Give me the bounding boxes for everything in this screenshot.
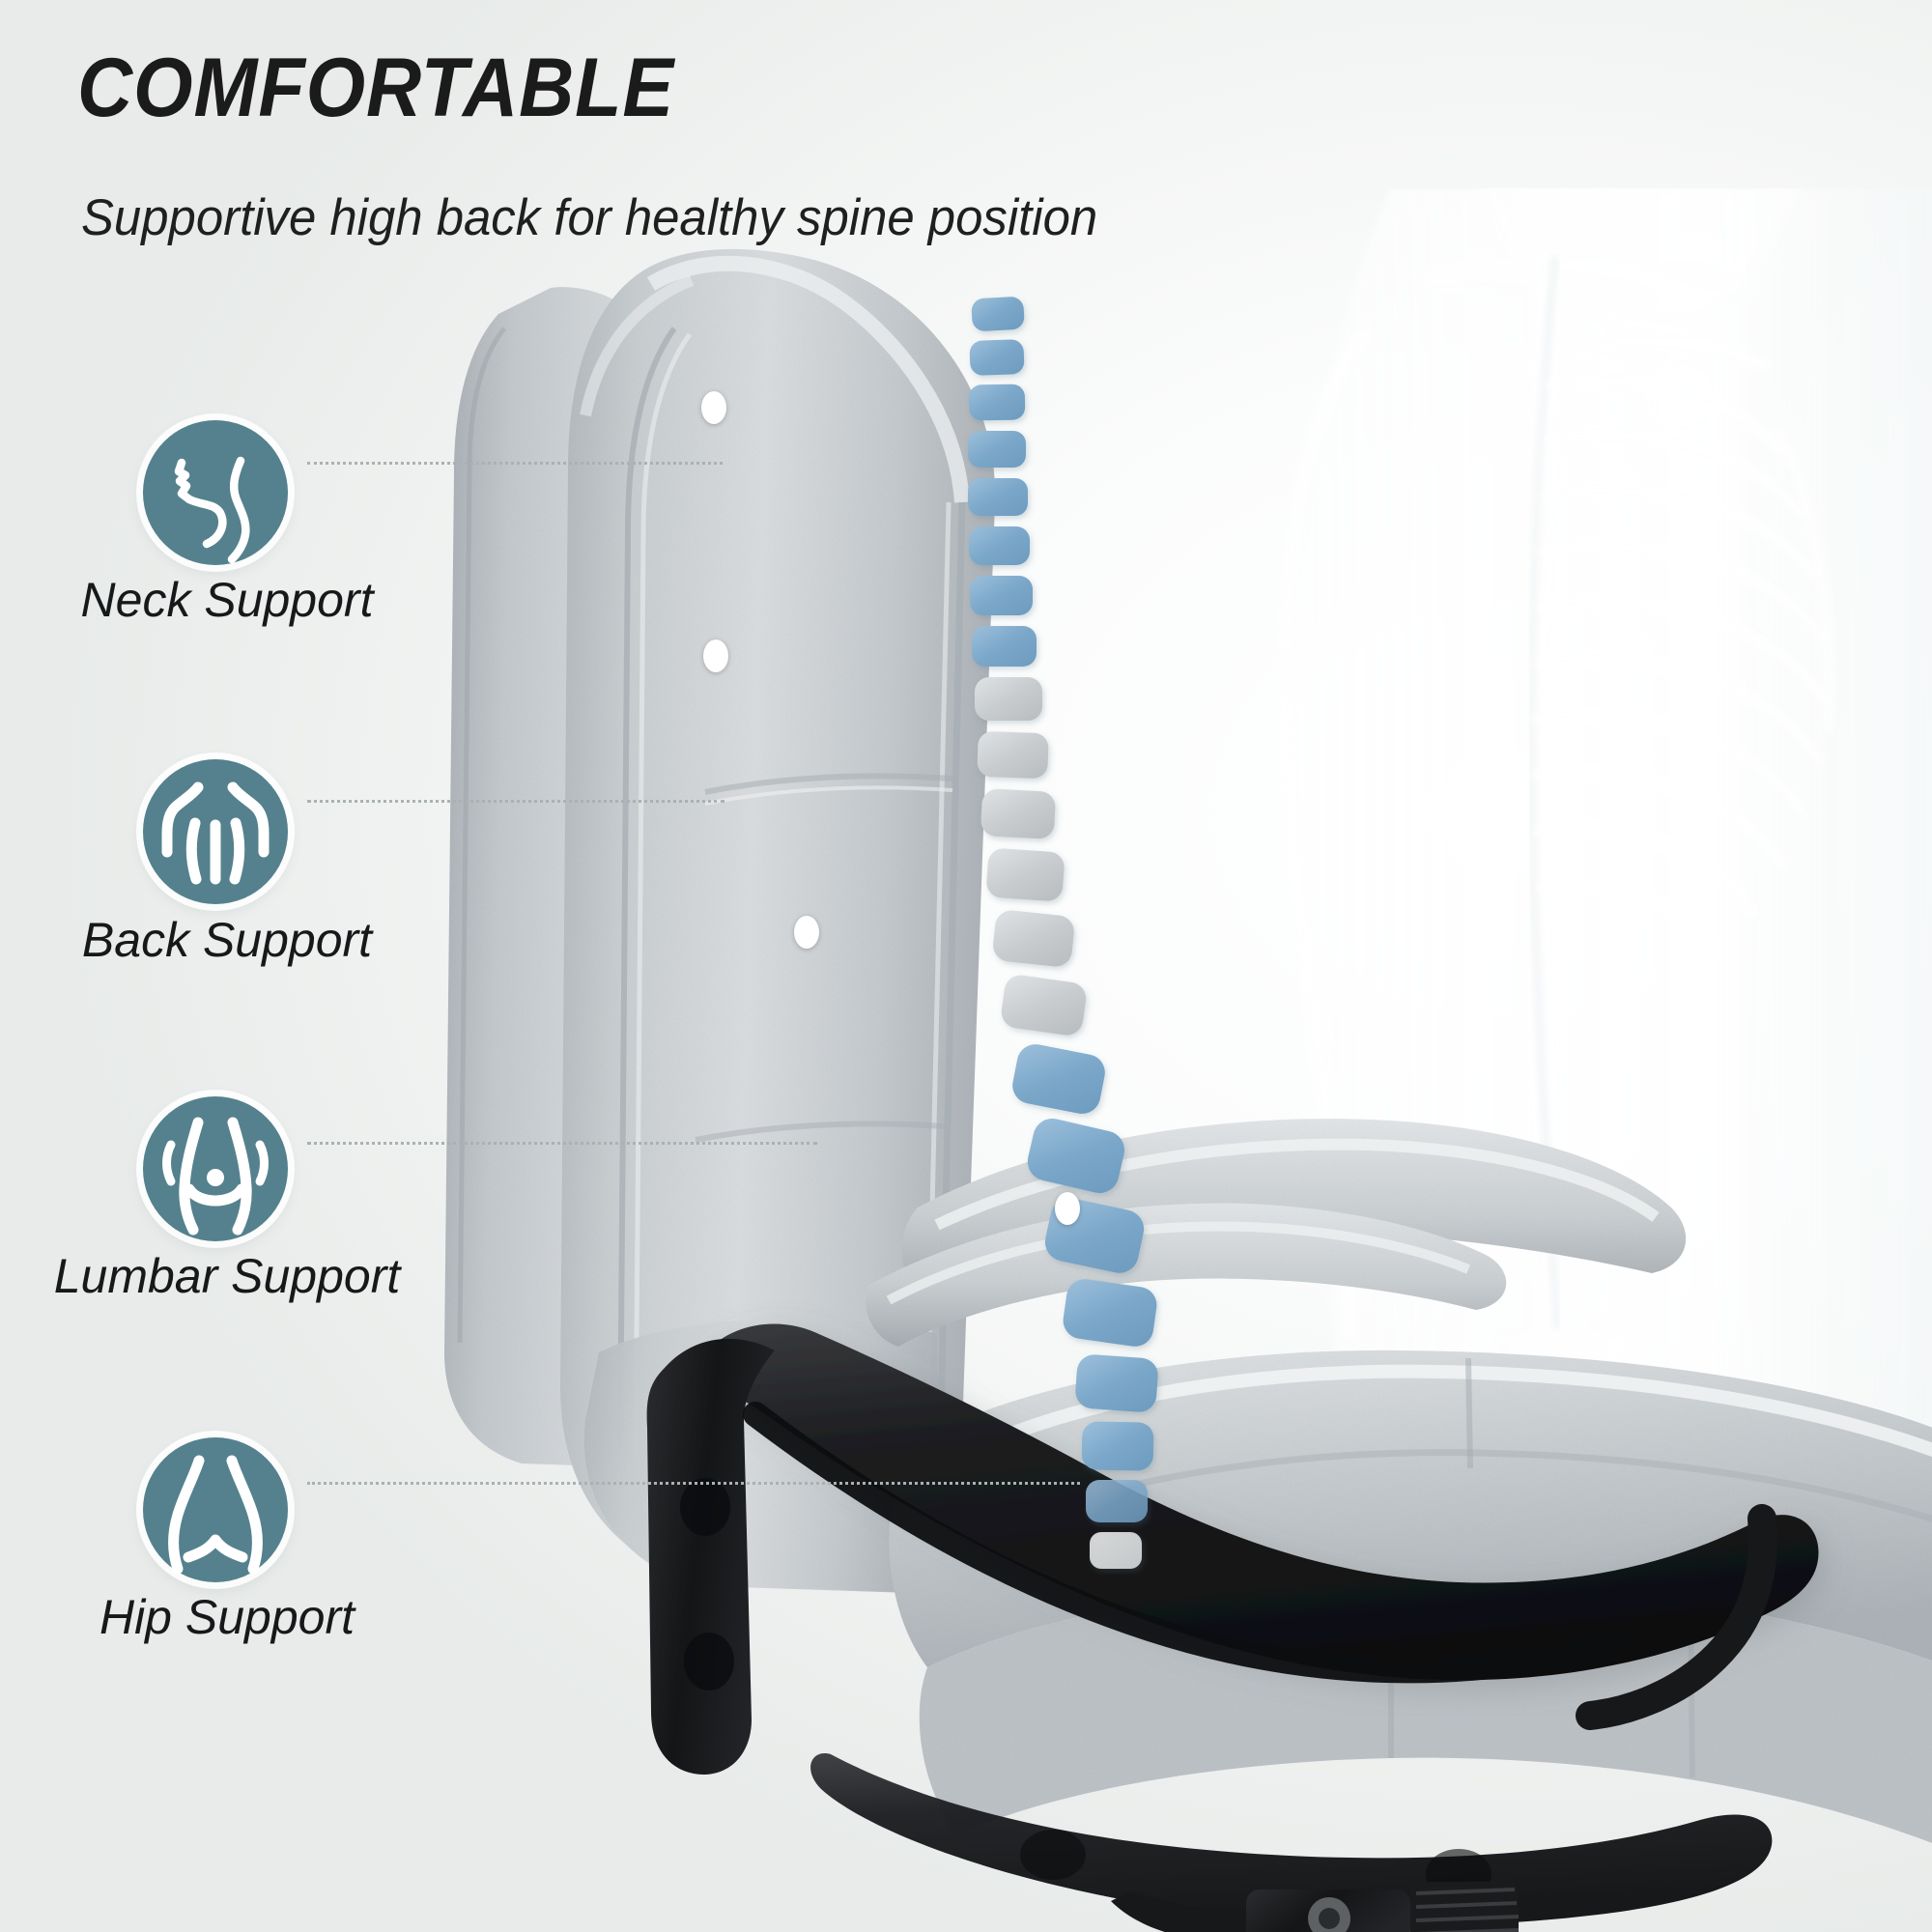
leader-line-lumbar [307,1142,817,1145]
callout-dot-neck [701,391,726,424]
upper-back-icon [143,759,288,904]
page-subtitle: Supportive high back for healthy spine p… [81,188,1097,247]
infographic-canvas: COMFORTABLE Supportive high back for hea… [0,0,1932,1932]
feature-label-back: Back Support [0,912,454,968]
page-title: COMFORTABLE [77,41,674,136]
callout-dot-lumbar [794,916,819,949]
lumbar-waist-icon [143,1096,288,1241]
feature-label-hip: Hip Support [0,1589,454,1645]
hips-icon [143,1437,288,1582]
spine-vertebrae-graphic [898,290,1265,1575]
feature-label-neck: Neck Support [0,572,454,628]
neck-profile-icon [143,420,288,565]
leader-line-neck [307,462,723,465]
callout-dot-back [703,639,728,672]
callout-dot-hip [1055,1192,1080,1225]
leader-line-back [307,800,724,803]
feature-label-lumbar: Lumbar Support [0,1248,454,1304]
leader-line-hip [307,1482,1080,1485]
